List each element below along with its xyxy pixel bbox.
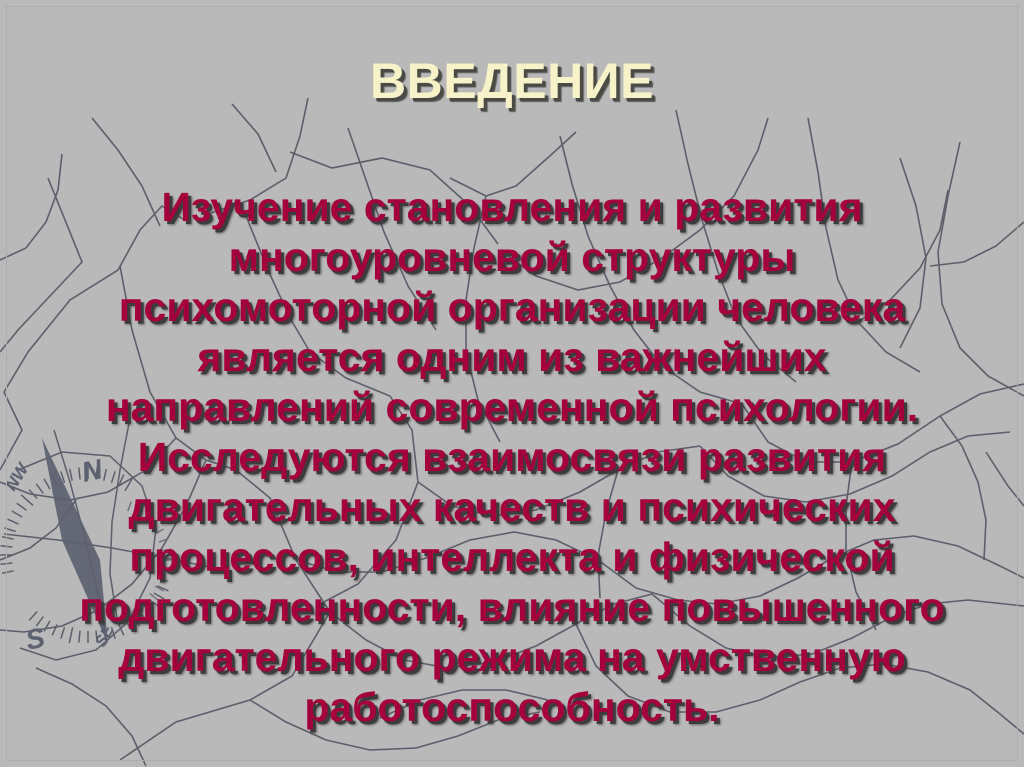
body-line: подготовленности, влияние повышенного <box>0 582 1024 632</box>
body-line: является одним из важнейших <box>0 332 1024 382</box>
body-line: Исследуются взаимосвязи развития <box>0 432 1024 482</box>
body-line: направлений современной психологии. <box>0 382 1024 432</box>
body-line: многоуровневой структуры <box>0 232 1024 282</box>
body-line: Изучение становления и развития <box>0 182 1024 232</box>
body-line: двигательных качеств и психических <box>0 482 1024 532</box>
body-line: процессов, интеллекта и физической <box>0 532 1024 582</box>
body-line: психомоторной организации человека <box>0 282 1024 332</box>
body-line: двигательного режима на умственную <box>0 632 1024 682</box>
body-line: работоспособность. <box>0 682 1024 732</box>
page-title: ВВЕДЕНИЕ <box>0 55 1024 108</box>
presentation-slide: N S NW SE ВВЕДЕНИЕ Изучение становления … <box>0 0 1024 767</box>
slide-body-text: Изучение становления и развития многоуро… <box>0 182 1024 732</box>
slide-content: ВВЕДЕНИЕ Изучение становления и развития… <box>0 0 1024 767</box>
